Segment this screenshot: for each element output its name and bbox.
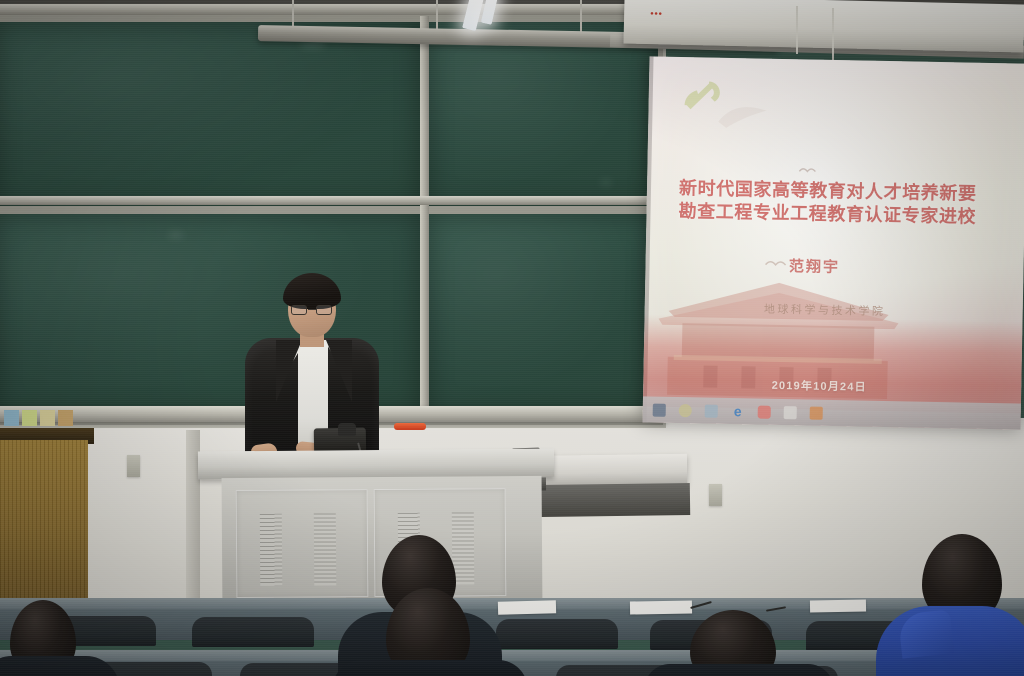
cabinet-item bbox=[58, 410, 73, 426]
file-explorer-icon[interactable] bbox=[784, 406, 797, 419]
wall-switch-box bbox=[127, 455, 140, 477]
task-view-icon[interactable] bbox=[705, 404, 718, 417]
app-icon-red[interactable] bbox=[758, 405, 771, 418]
student-shoulders-center-right bbox=[644, 664, 834, 676]
student-shoulders-left bbox=[0, 656, 120, 676]
red-marker bbox=[394, 423, 426, 430]
student-shoulders-center bbox=[332, 660, 528, 676]
chalkboard-panel-top-left bbox=[0, 22, 420, 206]
projection-screen-case: ●●● bbox=[624, 0, 1024, 53]
edge-browser-icon[interactable]: e bbox=[731, 405, 745, 418]
chalkboard-panel-bottom-right bbox=[428, 214, 658, 414]
paper-sheet bbox=[498, 600, 556, 615]
seat-back bbox=[192, 617, 314, 647]
bench-desktop bbox=[0, 650, 1024, 661]
chalkboard-middle-rail bbox=[0, 196, 666, 205]
cabinet-top-items bbox=[2, 410, 80, 430]
start-button-icon[interactable] bbox=[653, 403, 666, 416]
cabinet-item bbox=[4, 410, 19, 426]
cabinet-item bbox=[40, 410, 55, 426]
chalk-smudge bbox=[600, 180, 612, 185]
screen-hanger bbox=[832, 8, 834, 60]
chalkboard-panel-top-right bbox=[428, 22, 658, 206]
paper-sheet bbox=[810, 600, 866, 613]
lectern-door-left[interactable] bbox=[236, 489, 369, 598]
classroom-photo-scene: ●●● bbox=[0, 0, 1024, 676]
slide-title: 新时代国家高等教育对人才培养新要 勘查工程专业工程教育认证专家进校 bbox=[678, 177, 1024, 231]
jacket-lapel-right bbox=[326, 340, 352, 402]
jacket-lapel-left bbox=[276, 340, 302, 402]
console-knob bbox=[338, 423, 356, 436]
side-table-shelf bbox=[540, 483, 690, 517]
cabinet-item bbox=[22, 410, 37, 426]
wall-switch-box bbox=[709, 484, 722, 506]
lens-right bbox=[316, 305, 332, 315]
bird-silhouettes bbox=[797, 163, 827, 180]
wooden-cabinet bbox=[0, 440, 88, 610]
paper-sheet bbox=[630, 600, 692, 614]
chalkboard-divider bbox=[420, 16, 429, 416]
vent-louvers bbox=[314, 513, 337, 585]
lectern-surface bbox=[198, 448, 554, 479]
lens-left bbox=[291, 305, 307, 315]
chalkboard-top-rail bbox=[0, 4, 666, 15]
seat-back bbox=[496, 619, 618, 649]
projection-screen: 新时代国家高等教育对人才培养新要 勘查工程专业工程教育认证专家进校 范翔宇 地球… bbox=[643, 56, 1024, 429]
slide-title-line-2: 勘查工程专业工程教育认证专家进校 bbox=[678, 200, 1024, 231]
app-icon-orange[interactable] bbox=[810, 406, 823, 419]
screen-hanger bbox=[796, 6, 798, 54]
chalk-smudge bbox=[168, 232, 184, 238]
dove-ribbon-graphic bbox=[716, 100, 773, 131]
glasses-bridge bbox=[308, 309, 316, 310]
screen-brand-label: ●●● bbox=[650, 11, 663, 17]
search-icon[interactable] bbox=[679, 404, 692, 417]
vent-louvers bbox=[260, 514, 283, 586]
eyeglasses-icon bbox=[291, 305, 333, 315]
